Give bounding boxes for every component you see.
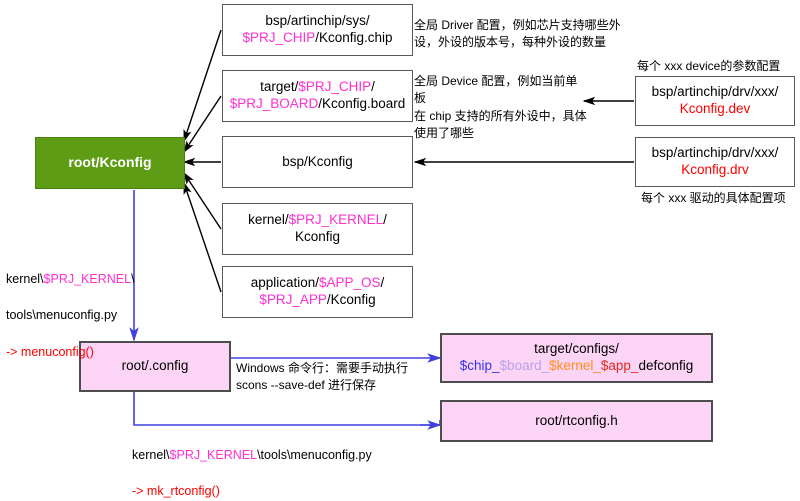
- chip-var: $PRJ_CHIP: [242, 30, 315, 45]
- node-rtconfig-h[interactable]: root/rtconfig.h: [440, 400, 713, 442]
- note-windows-cmd: Windows 命令行：需要手动执行 scons --save-def 进行保存: [236, 360, 436, 395]
- kernel-line1a: kernel/: [248, 212, 289, 227]
- drv-line2: Kconfig.drv: [681, 162, 749, 177]
- board-var1: $PRJ_CHIP: [298, 79, 371, 94]
- board-line1b: /: [371, 79, 375, 94]
- node-kconfig-dev[interactable]: bsp/artinchip/drv/xxx/ Kconfig.dev: [635, 76, 795, 126]
- mkrt-line2: -> mk_rtconfig(): [132, 484, 220, 498]
- node-kernel-kconfig[interactable]: kernel/$PRJ_KERNEL/ Kconfig: [222, 203, 413, 255]
- diagram-canvas: root/Kconfig bsp/artinchip/sys/ $PRJ_CHI…: [0, 0, 800, 462]
- node-bsp-kconfig[interactable]: bsp/Kconfig: [222, 136, 413, 188]
- kernel-var: $PRJ_KERNEL: [289, 212, 384, 227]
- node-kconfig-drv-text: bsp/artinchip/drv/xxx/ Kconfig.drv: [652, 145, 779, 179]
- defconfig-app: $app_: [601, 358, 639, 373]
- node-defconfig-text: target/configs/ $chip_$board_$kernel_$ap…: [460, 341, 693, 375]
- kernel-line1b: /: [383, 212, 387, 227]
- note-device-config: 全局 Device 配置，例如当前单板 在 chip 支持的所有外设中，具体 使…: [414, 73, 589, 143]
- menuconfig-line1b: \: [131, 272, 134, 286]
- app-var2: $PRJ_APP: [259, 292, 327, 307]
- mkrt-line1a: kernel\: [132, 448, 170, 462]
- node-kconfig-dev-text: bsp/artinchip/drv/xxx/ Kconfig.dev: [652, 84, 779, 118]
- mkrt-line1b: \tools\menuconfig.py: [257, 448, 372, 462]
- node-bsp-kconfig-label: bsp/Kconfig: [282, 154, 353, 171]
- node-application-kconfig-text: application/$APP_OS/ $PRJ_APP/Kconfig: [251, 275, 385, 309]
- node-application-kconfig[interactable]: application/$APP_OS/ $PRJ_APP/Kconfig: [222, 266, 413, 318]
- dev-line1: bsp/artinchip/drv/xxx/: [652, 84, 779, 99]
- note-driver-config: 全局 Driver 配置，例如芯片支持哪些外 设，外设的版本号，每种外设的数量: [414, 17, 629, 52]
- menuconfig-line1a: kernel\: [6, 272, 44, 286]
- node-kconfig-chip[interactable]: bsp/artinchip/sys/ $PRJ_CHIP/Kconfig.chi…: [222, 4, 413, 56]
- defconfig-chip: $chip_: [460, 358, 500, 373]
- board-line1a: target/: [260, 79, 298, 94]
- node-defconfig[interactable]: target/configs/ $chip_$board_$kernel_$ap…: [440, 333, 713, 383]
- note-menuconfig-call: kernel\$PRJ_KERNEL\ tools\menuconfig.py …: [6, 252, 186, 361]
- app-line1a: application/: [251, 275, 319, 290]
- menuconfig-line2: tools\menuconfig.py: [6, 308, 117, 322]
- defconfig-tail: defconfig: [638, 358, 693, 373]
- board-line2b: /Kconfig.board: [318, 96, 405, 111]
- defconfig-board: $board_: [500, 358, 550, 373]
- defconfig-kernel: $kernel_: [549, 358, 601, 373]
- node-kconfig-drv[interactable]: bsp/artinchip/drv/xxx/ Kconfig.drv: [635, 137, 795, 187]
- chip-line2: /Kconfig.chip: [315, 30, 392, 45]
- node-root-kconfig-label: root/Kconfig: [68, 154, 151, 172]
- chip-line1: bsp/artinchip/sys/: [265, 13, 369, 28]
- dev-line2: Kconfig.dev: [680, 101, 751, 116]
- defconfig-line1: target/configs/: [534, 341, 619, 356]
- app-line1b: /: [381, 275, 385, 290]
- node-kconfig-board-text: target/$PRJ_CHIP/ $PRJ_BOARD/Kconfig.boa…: [230, 79, 406, 113]
- app-var1: $APP_OS: [319, 275, 381, 290]
- drv-line1: bsp/artinchip/drv/xxx/: [652, 145, 779, 160]
- kernel-line2: Kconfig: [295, 229, 340, 244]
- note-drv-items: 每个 xxx 驱动的具体配置项: [641, 190, 800, 207]
- node-kconfig-board[interactable]: target/$PRJ_CHIP/ $PRJ_BOARD/Kconfig.boa…: [222, 70, 413, 122]
- mkrt-var: $PRJ_KERNEL: [170, 448, 258, 462]
- node-kconfig-chip-text: bsp/artinchip/sys/ $PRJ_CHIP/Kconfig.chi…: [242, 13, 392, 47]
- menuconfig-line3: -> menuconfig(): [6, 345, 94, 359]
- node-root-kconfig[interactable]: root/Kconfig: [35, 137, 185, 189]
- menuconfig-var: $PRJ_KERNEL: [44, 272, 132, 286]
- note-mk-rtconfig-call: kernel\$PRJ_KERNEL\tools\menuconfig.py -…: [132, 428, 462, 501]
- board-var2: $PRJ_BOARD: [230, 96, 319, 111]
- node-rtconfig-h-label: root/rtconfig.h: [535, 413, 618, 430]
- node-kernel-kconfig-text: kernel/$PRJ_KERNEL/ Kconfig: [248, 212, 387, 246]
- note-dev-params: 每个 xxx device的参数配置: [637, 58, 800, 75]
- app-line2b: /Kconfig: [327, 292, 376, 307]
